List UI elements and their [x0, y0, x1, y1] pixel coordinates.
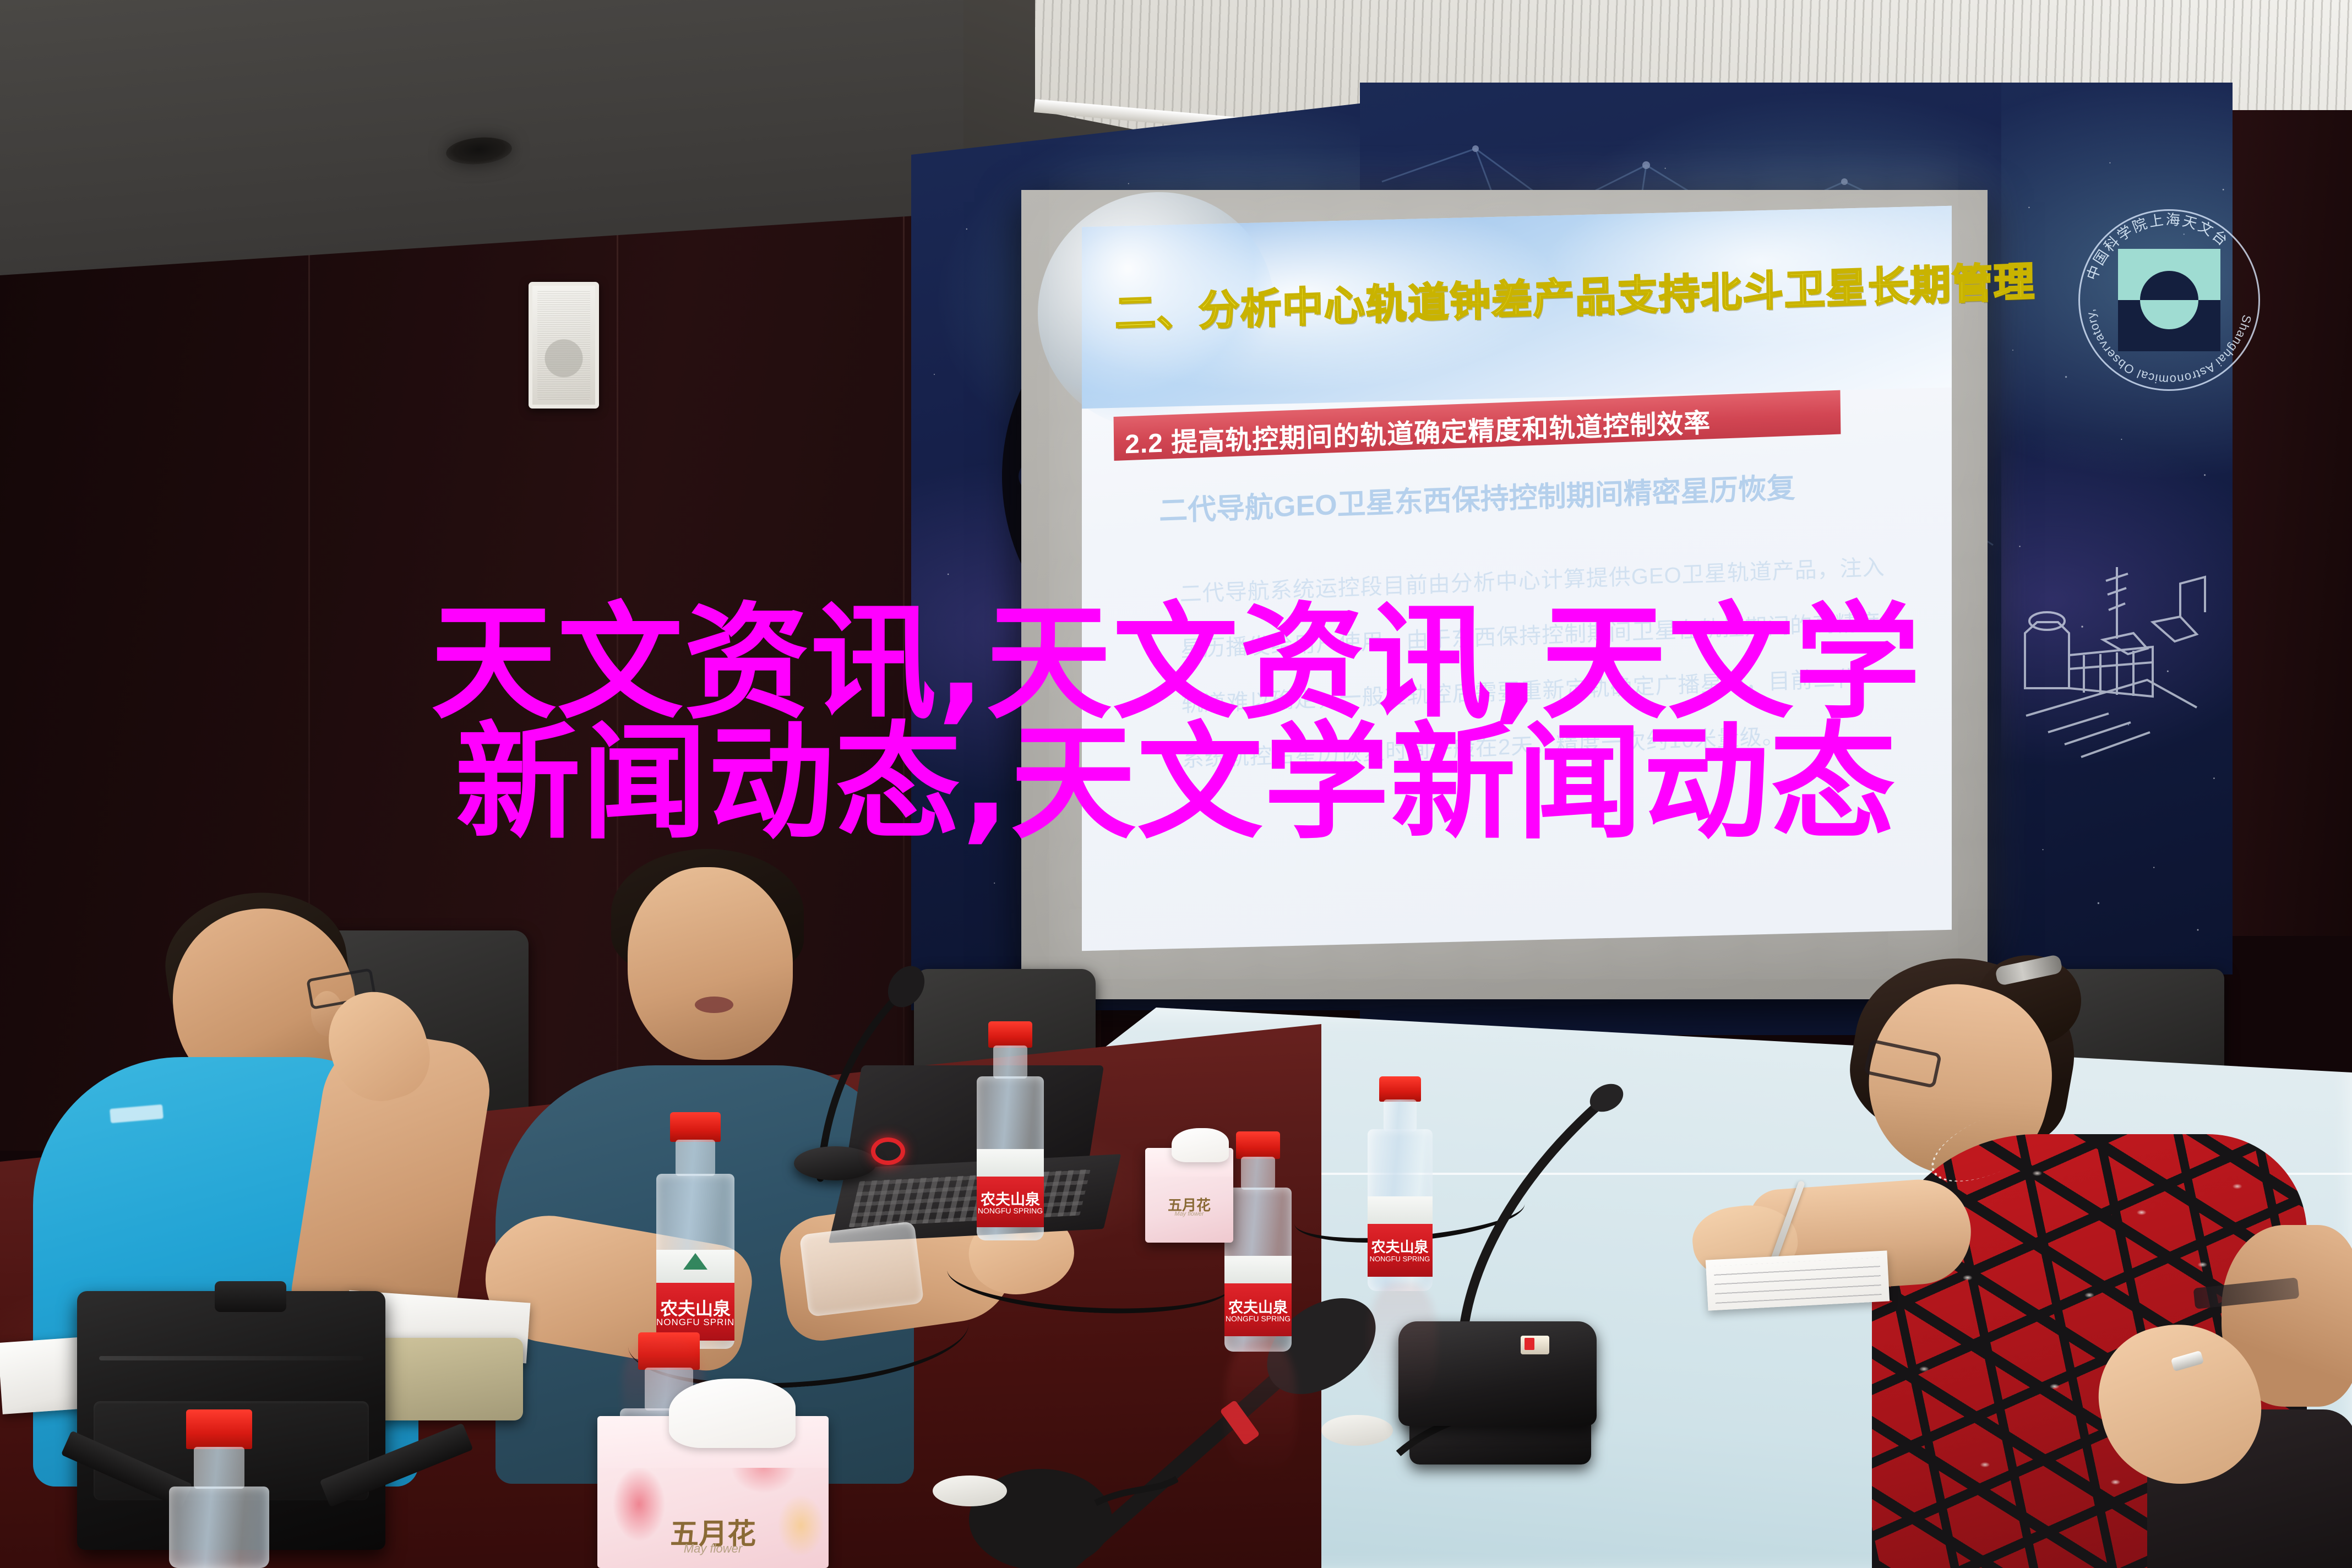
- bottle-brand-en: NONGFU SPRING: [1224, 1314, 1292, 1323]
- mouth: [695, 997, 733, 1013]
- bottle-brand-en: NONGFU SPRING: [656, 1317, 734, 1328]
- bottle-reflection: [1225, 1341, 1297, 1478]
- bottle-cap: [186, 1409, 252, 1449]
- emblem-chinese-text: 中国科学院上海天文台: [2084, 211, 2231, 282]
- microphone-active-led: [871, 1137, 905, 1165]
- bottle-cap: [988, 1021, 1032, 1048]
- microphone-base[interactable]: [794, 1146, 876, 1180]
- bottle-brand-en: NONGFU SPRING: [1368, 1255, 1433, 1263]
- bottle-brand-cn: 农夫山泉: [1368, 1236, 1433, 1256]
- tissue-box[interactable]: 五月花 May flower: [1145, 1148, 1233, 1243]
- slide-body-text: 二代导航系统运控段目前由分析中心计算提供GEO卫星轨道产品，注入 星历播发给用户…: [1135, 542, 1920, 792]
- bottle-reflection: [1368, 1283, 1437, 1409]
- head: [628, 867, 793, 1060]
- bottle-cap: [1236, 1131, 1280, 1159]
- svg-text:中国科学院上海天文台: 中国科学院上海天文台: [2084, 211, 2231, 282]
- observatory-emblem-icon: 中国科学院上海天文台 Shanghai Astronomical Observa…: [2078, 209, 2260, 391]
- microphone-assembly[interactable]: [969, 1431, 1178, 1568]
- tissue-brand-en: May flower: [1145, 1211, 1233, 1217]
- plastic-wrapper: [799, 1221, 924, 1317]
- water-bottle[interactable]: 农夫山泉 NONGFU SPRING: [654, 1112, 737, 1349]
- cable-grommet: [1321, 1415, 1393, 1446]
- projection-screen: 二、分析中心轨道钟差产品支持北斗卫星长期管理 2.2 提高轨控期间的轨道确定精度…: [1082, 206, 1952, 951]
- tissue-box[interactable]: 五月花 May flower: [597, 1416, 829, 1568]
- observatory-building-lineart: [2015, 551, 2235, 809]
- slide-subtitle: 二代导航GEO卫星东西保持控制期间精密星历恢复: [1159, 465, 1795, 529]
- photo-scene: 中国科学院上海天文台 Shanghai Astronomical Observa…: [0, 0, 2352, 1568]
- microphone-assembly[interactable]: [787, 952, 941, 1184]
- microphone-indicator-led: [1521, 1336, 1549, 1354]
- cable-grommet: [933, 1476, 1007, 1506]
- bottle-brand-en: NONGFU SPRING: [977, 1206, 1044, 1215]
- notepad: [1706, 1250, 1890, 1310]
- bottle-cap: [1379, 1076, 1421, 1102]
- water-bottle[interactable]: 农夫山泉 NONGFU SPRING: [1365, 1076, 1434, 1291]
- water-bottle[interactable]: [165, 1409, 273, 1568]
- wall-speaker-icon: [529, 282, 599, 409]
- water-bottle[interactable]: 农夫山泉 NONGFU SPRING: [974, 1021, 1046, 1240]
- bottle-cap: [670, 1112, 721, 1142]
- tissue-brand-en: May flower: [597, 1542, 829, 1556]
